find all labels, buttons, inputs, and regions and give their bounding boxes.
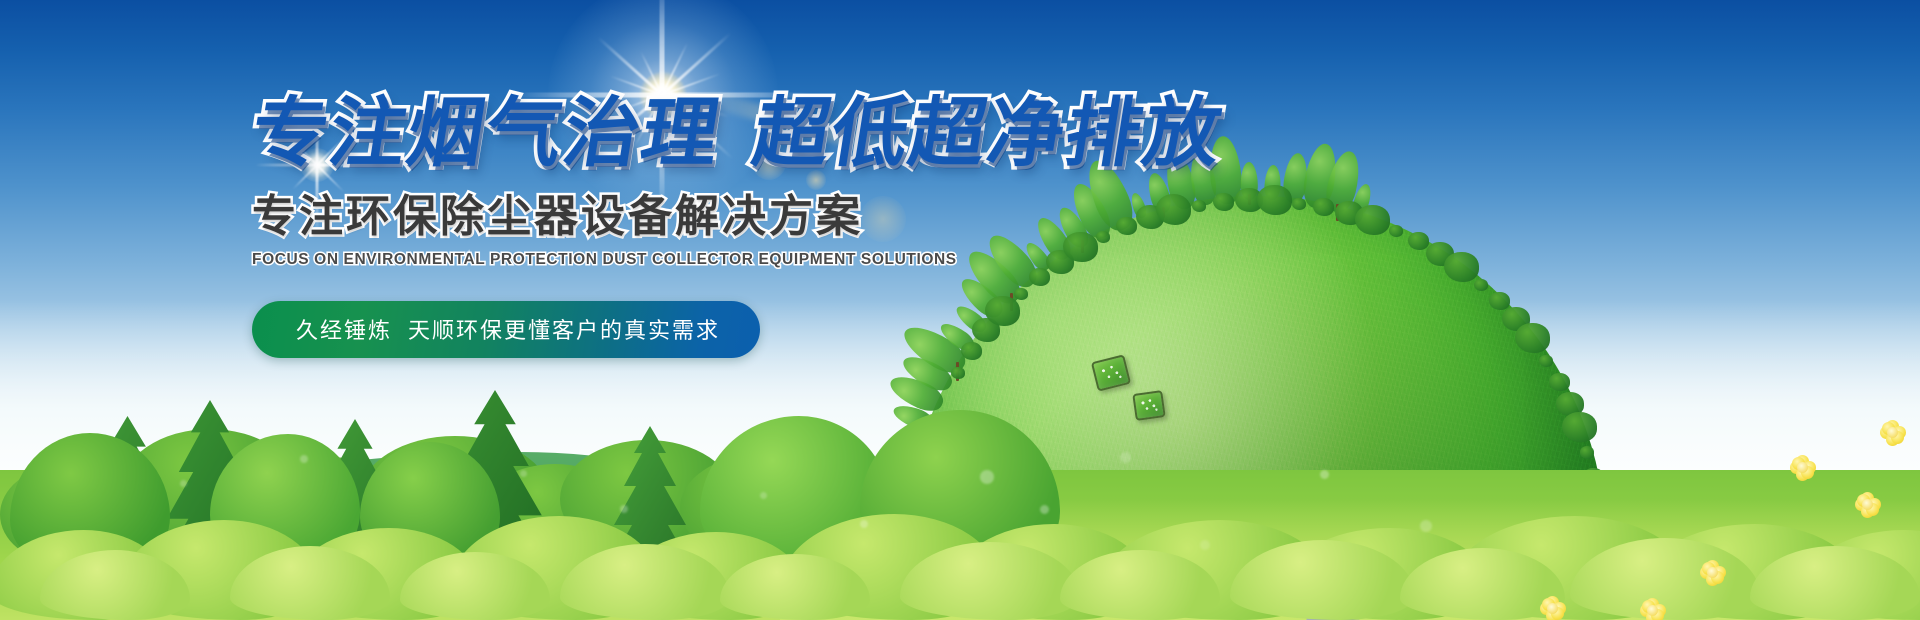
slogan-part-1: 久经锤炼 [296, 318, 392, 343]
globe-rim-bush [1355, 205, 1390, 235]
bokeh-dot [1420, 520, 1432, 532]
bokeh-dot [1320, 470, 1329, 479]
globe-rim-bush [1408, 232, 1429, 250]
flower-icon [1640, 598, 1666, 620]
flower-icon [1790, 455, 1816, 481]
headline-part-1: 专注烟气治理 [245, 91, 726, 176]
globe-rim-bush [1474, 279, 1488, 291]
bokeh-dot [520, 470, 527, 477]
globe-rim-bush [1313, 198, 1334, 216]
bokeh-dot [1040, 505, 1049, 514]
globe-rim-bush [1489, 292, 1510, 310]
globe-cube-object [1132, 390, 1165, 421]
flower-core [1862, 499, 1873, 510]
bokeh-dot [1120, 452, 1131, 463]
globe-rim-bush [1292, 198, 1306, 210]
slogan-pill[interactable]: 久经锤炼天顺环保更懂客户的真实需求 [252, 301, 760, 358]
foreground-forest [0, 420, 1920, 620]
globe-rim-bush [951, 367, 965, 379]
bokeh-dot [860, 520, 868, 528]
banner-copy: 专注烟气治理超低超净排放 专注环保除尘器设备解决方案 FOCUS ON ENVI… [252, 96, 1132, 358]
banner-subtitle: 专注环保除尘器设备解决方案 [252, 194, 1132, 240]
globe-rim-bush [1539, 355, 1553, 367]
flower-core [1797, 462, 1808, 473]
globe-rim-bush [1156, 194, 1191, 224]
banner-english-tagline: FOCUS ON ENVIRONMENTAL PROTECTION DUST C… [252, 251, 1132, 269]
bokeh-dot [620, 505, 628, 513]
globe-rim-bush [1389, 225, 1403, 237]
slogan-part-2: 天顺环保更懂客户的真实需求 [408, 318, 720, 343]
globe-rim-bush [1257, 185, 1292, 215]
flower-core [1547, 603, 1558, 614]
headline-part-2: 超低超净排放 [747, 91, 1228, 176]
globe-rim-bush [1549, 373, 1570, 391]
flower-icon [1855, 492, 1881, 518]
bokeh-dot [760, 492, 767, 499]
flower-icon [1540, 596, 1566, 620]
bokeh-dot [1200, 540, 1210, 550]
flower-icon [1700, 560, 1726, 586]
bokeh-dot [980, 470, 994, 484]
page-title: 专注烟气治理超低超净排放 [246, 96, 1138, 172]
bokeh-dot [180, 480, 187, 487]
flower-core [1887, 427, 1898, 438]
flower-icon [1880, 420, 1906, 446]
flower-core [1707, 567, 1718, 578]
globe-rim-bush [1213, 193, 1234, 211]
globe-rim-bush [1192, 200, 1206, 212]
bokeh-dot [300, 455, 308, 463]
flower-core [1647, 605, 1658, 616]
hero-banner: 专注烟气治理超低超净排放 专注环保除尘器设备解决方案 FOCUS ON ENVI… [0, 0, 1920, 620]
